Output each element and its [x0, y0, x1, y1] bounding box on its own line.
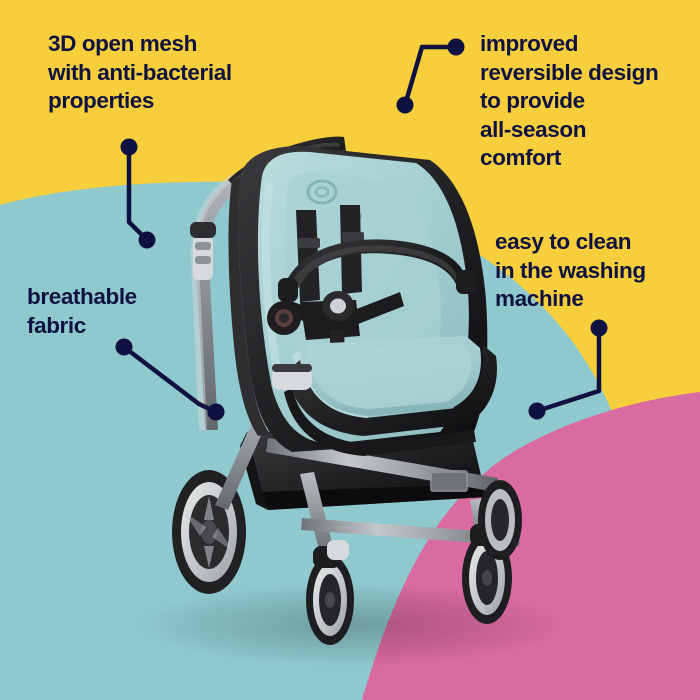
callout-dot-breathable-start	[116, 339, 133, 356]
product-feature-poster: 3D open mesh with anti-bacterial propert…	[0, 0, 700, 700]
callout-dot-breathable-end	[208, 404, 225, 421]
callout-dot-reversible-start	[448, 39, 465, 56]
feature-label-reversible: improved reversible design to provide al…	[480, 30, 695, 173]
callout-line-mesh	[121, 139, 156, 249]
callout-dot-mesh-start	[121, 139, 138, 156]
callout-dot-washable-start	[591, 320, 608, 337]
callout-dot-mesh-end	[139, 232, 156, 249]
feature-label-washable: easy to clean in the washing machine	[495, 228, 695, 314]
feature-label-breathable: breathable fabric	[27, 283, 207, 340]
callout-dot-reversible-end	[397, 97, 414, 114]
callout-line-breathable	[116, 339, 225, 421]
callout-dot-washable-end	[529, 403, 546, 420]
callout-line-reversible	[397, 39, 465, 114]
feature-label-mesh: 3D open mesh with anti-bacterial propert…	[48, 30, 298, 116]
callout-line-washable	[529, 320, 608, 420]
